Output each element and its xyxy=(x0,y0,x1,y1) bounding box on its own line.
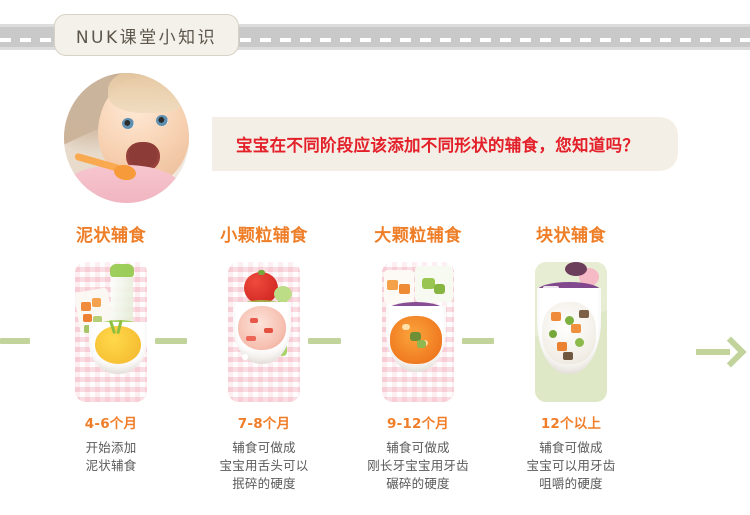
baby-photo xyxy=(64,73,189,203)
baby-eye-left xyxy=(122,118,134,129)
stage-heading-1: 小颗粒辅食 xyxy=(187,222,341,250)
carrot-cube xyxy=(81,302,91,311)
green-pea xyxy=(575,338,584,347)
speech-bubble-text: 宝宝在不同阶段应该添加不同形状的辅食，您知道吗？ xyxy=(236,117,639,171)
bottle-cap xyxy=(110,264,134,277)
stage-age-1: 7-8个月 xyxy=(187,412,341,432)
connector-line-0 xyxy=(0,338,30,344)
carrot-cube xyxy=(92,298,101,307)
pumpkin-cube xyxy=(399,284,410,294)
green-spoon-bowl xyxy=(274,286,292,302)
stage-column-3: 块状辅食 12个以上 辅食可做成 宝宝可以用牙齿 咀嚼的硬度 xyxy=(494,222,648,493)
stage-desc-line: 辅食可做成 xyxy=(187,439,341,457)
stage-desc-line: 宝宝用舌头可以 xyxy=(187,457,341,475)
green-pea xyxy=(565,316,574,325)
stage-desc-line: 抿碎的硬度 xyxy=(187,475,341,493)
stage-column-1: 小颗粒辅食 7-8个月 辅食可做成 宝宝用舌头可以 抿碎的硬度 xyxy=(187,222,341,493)
arrow-head xyxy=(715,336,746,367)
stage-heading-2: 大颗粒辅食 xyxy=(341,222,495,250)
stage-desc-line: 辅食可做成 xyxy=(341,439,495,457)
section-title-pill: NUK课堂小知识 xyxy=(54,14,239,56)
broccoli-piece xyxy=(434,284,445,294)
stage-desc-line: 刚长牙宝宝用牙齿 xyxy=(341,457,495,475)
tomato-bit xyxy=(264,328,273,333)
stage-desc-line: 泥状辅食 xyxy=(34,457,188,475)
stage-desc-1: 辅食可做成 宝宝用舌头可以 抿碎的硬度 xyxy=(187,439,341,493)
carrot-dice xyxy=(551,312,561,321)
stage-row: 泥状辅食 4-6个月 开始添加 泥状辅食 小颗粒辅食 xyxy=(0,222,750,515)
progress-arrow-icon xyxy=(696,338,742,366)
stage-desc-2: 辅食可做成 刚长牙宝宝用牙齿 碾碎的硬度 xyxy=(341,439,495,493)
stage-age-2: 9-12个月 xyxy=(341,412,495,432)
page-title: NUK课堂小知识 xyxy=(76,23,217,48)
broccoli-garnish xyxy=(417,340,426,348)
stage-desc-3: 辅食可做成 宝宝可以用牙齿 咀嚼的硬度 xyxy=(494,439,648,493)
stage-desc-line: 咀嚼的硬度 xyxy=(494,475,648,493)
stage-column-0: 泥状辅食 4-6个月 开始添加 泥状辅食 xyxy=(34,222,188,475)
carrot-dice xyxy=(571,324,581,333)
bowl-dot xyxy=(242,354,248,360)
stage-heading-3: 块状辅食 xyxy=(494,222,648,250)
green-pea xyxy=(549,330,557,338)
dark-decoration xyxy=(565,262,587,276)
carrot-dice xyxy=(557,342,567,351)
stage-age-3: 12个以上 xyxy=(494,412,648,432)
baby-hair xyxy=(108,73,189,113)
rice-grain xyxy=(402,324,410,330)
stage-photo-2 xyxy=(382,262,454,402)
stage-desc-line: 开始添加 xyxy=(34,439,188,457)
baby-eye-right xyxy=(156,115,168,126)
stage-desc-line: 碾碎的硬度 xyxy=(341,475,495,493)
stage-age-0: 4-6个月 xyxy=(34,412,188,432)
tomato-bit xyxy=(246,336,256,341)
mushroom-dice xyxy=(563,352,573,360)
speech-bubble: 宝宝在不同阶段应该添加不同形状的辅食，您知道吗？ xyxy=(212,117,678,171)
stage-column-2: 大颗粒辅食 9-12个月 辅食可做成 刚长牙宝宝用牙齿 碾碎的硬度 xyxy=(341,222,495,493)
mushroom-dice xyxy=(579,310,589,318)
stage-photo-1 xyxy=(228,262,300,402)
stage-photo-3 xyxy=(535,262,607,402)
pumpkin-cube xyxy=(387,280,398,290)
stage-heading-0: 泥状辅食 xyxy=(34,222,188,250)
stage-desc-line: 宝宝可以用牙齿 xyxy=(494,457,648,475)
tomato-stem xyxy=(258,270,265,275)
tomato-porridge xyxy=(238,306,286,350)
stage-photo-0 xyxy=(75,262,147,402)
carrot-cube xyxy=(83,314,92,322)
tomato-bit xyxy=(250,318,258,323)
stage-desc-line: 辅食可做成 xyxy=(494,439,648,457)
stage-desc-0: 开始添加 泥状辅食 xyxy=(34,439,188,475)
